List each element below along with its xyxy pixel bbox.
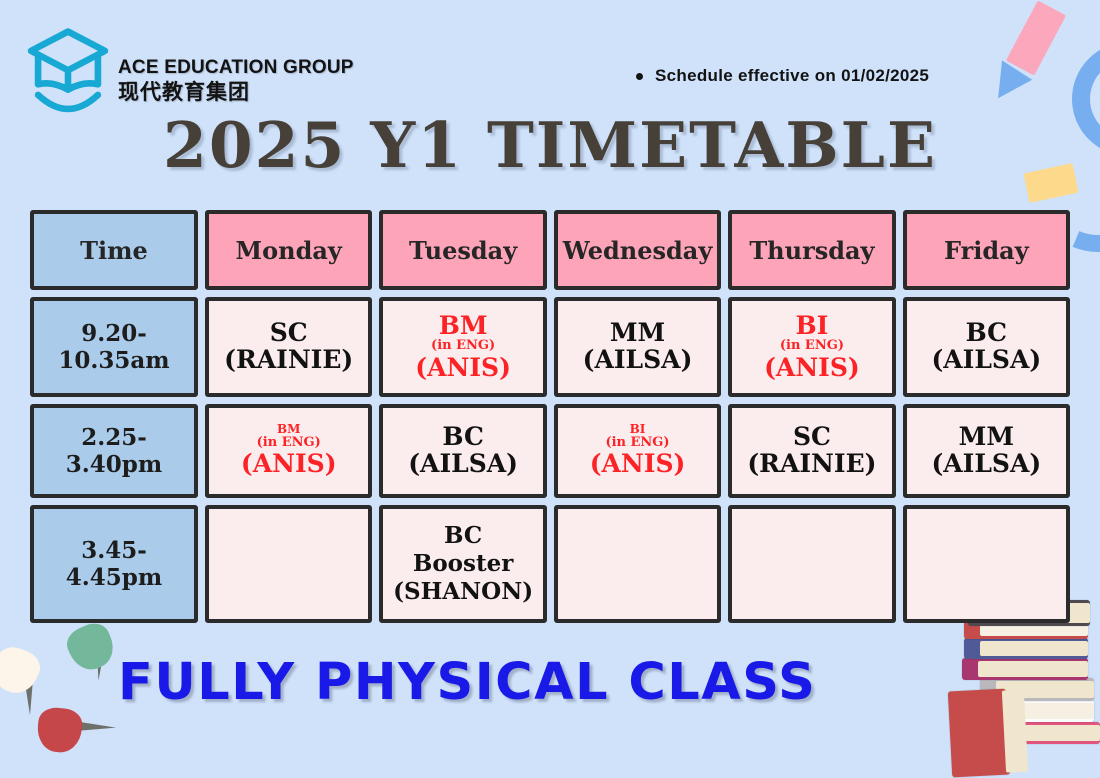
subject-code: SC	[270, 319, 308, 347]
time-line-2: 10.35am	[58, 347, 169, 374]
class-cell-friday[interactable]: BC (AILSA)	[903, 297, 1070, 397]
subject-language-note: (in ENG)	[780, 339, 844, 353]
subject-code: BC	[444, 522, 482, 550]
class-cell-thursday[interactable]: SC (RAINIE)	[728, 404, 895, 498]
teacher-name: (ANIS)	[590, 450, 686, 479]
class-cell-friday[interactable]: MM (AILSA)	[903, 404, 1070, 498]
class-cell-tuesday[interactable]: BC (AILSA)	[379, 404, 546, 498]
class-cell-tuesday[interactable]: BM (in ENG) (ANIS)	[379, 297, 546, 397]
column-header-thursday: Thursday	[728, 210, 895, 290]
timetable-row: 9.20- 10.35am SC (RAINIE) BM (in ENG) (A…	[30, 297, 1070, 397]
teacher-name: (AILSA)	[931, 346, 1041, 375]
subject-code: BM	[439, 312, 488, 340]
class-cell-wednesday[interactable]	[554, 505, 721, 623]
time-slot-cell: 9.20- 10.35am	[30, 297, 198, 397]
time-line-1: 3.45-	[81, 537, 147, 564]
class-cell-tuesday[interactable]: BC Booster (SHANON)	[379, 505, 546, 623]
subject-language-note: (in ENG)	[605, 436, 669, 450]
fully-physical-class-banner: FULLY PHYSICAL CLASS	[118, 653, 816, 712]
timetable-header-row: Time Monday Tuesday Wednesday Thursday F…	[30, 210, 1070, 290]
class-cell-friday[interactable]	[903, 505, 1070, 623]
class-cell-wednesday[interactable]: MM (AILSA)	[554, 297, 721, 397]
bullet-icon	[636, 73, 643, 80]
brand-name-cn: 现代教育集团	[118, 80, 354, 106]
book-stack-illustration	[950, 604, 1100, 778]
class-cell-thursday[interactable]	[728, 505, 895, 623]
pink-rectangle-decoration	[1006, 0, 1066, 75]
timetable-row: 3.45- 4.45pm BC Booster (SHANON)	[30, 505, 1070, 623]
subject-language-note: (in ENG)	[431, 339, 495, 353]
column-header-tuesday: Tuesday	[379, 210, 546, 290]
timetable-row: 2.25- 3.40pm BM (in ENG) (ANIS) BC (AILS…	[30, 404, 1070, 498]
time-line-2: 3.40pm	[66, 451, 162, 478]
blue-triangle-decoration	[998, 60, 1034, 101]
subject-code: BC	[966, 319, 1008, 347]
teacher-name: (ANIS)	[415, 354, 511, 383]
time-line-2: 4.45pm	[66, 564, 162, 591]
class-cell-thursday[interactable]: BI (in ENG) (ANIS)	[728, 297, 895, 397]
teacher-name: (AILSA)	[408, 450, 518, 479]
time-slot-cell: 2.25- 3.40pm	[30, 404, 198, 498]
column-header-monday: Monday	[205, 210, 372, 290]
teacher-name: (RAINIE)	[224, 346, 353, 375]
schedule-effective-note: Schedule effective on 01/02/2025	[636, 66, 929, 86]
brand-name-en: ACE EDUCATION GROUP	[118, 58, 354, 78]
schedule-effective-text: Schedule effective on 01/02/2025	[655, 66, 929, 86]
subject-code: SC	[793, 423, 831, 451]
timetable: Time Monday Tuesday Wednesday Thursday F…	[30, 210, 1070, 630]
teacher-name: (SHANON)	[393, 578, 533, 606]
time-slot-cell: 3.45- 4.45pm	[30, 505, 198, 623]
graduation-cap-book-icon	[24, 26, 112, 118]
class-cell-wednesday[interactable]: BI (in ENG) (ANIS)	[554, 404, 721, 498]
time-line-1: 2.25-	[81, 424, 147, 451]
teacher-name: (ANIS)	[241, 450, 337, 479]
teacher-name: (AILSA)	[583, 346, 693, 375]
brand-logo: ACE EDUCATION GROUP 现代教育集团	[24, 26, 354, 118]
subject-qualifier: Booster	[413, 550, 513, 578]
subject-code: BI	[796, 312, 829, 340]
subject-language-note: (in ENG)	[257, 436, 321, 450]
time-line-1: 9.20-	[81, 320, 147, 347]
class-cell-monday[interactable]: SC (RAINIE)	[205, 297, 372, 397]
subject-code: MM	[959, 423, 1014, 451]
subject-code: MM	[610, 319, 665, 347]
column-header-friday: Friday	[903, 210, 1070, 290]
class-cell-monday[interactable]	[205, 505, 372, 623]
column-header-wednesday: Wednesday	[554, 210, 721, 290]
teacher-name: (ANIS)	[764, 354, 860, 383]
class-cell-monday[interactable]: BM (in ENG) (ANIS)	[205, 404, 372, 498]
page-title: 2025 Y1 TIMETABLE	[0, 108, 1100, 182]
subject-code: BC	[442, 423, 484, 451]
teacher-name: (RAINIE)	[747, 450, 876, 479]
column-header-time: Time	[30, 210, 198, 290]
teacher-name: (AILSA)	[931, 450, 1041, 479]
